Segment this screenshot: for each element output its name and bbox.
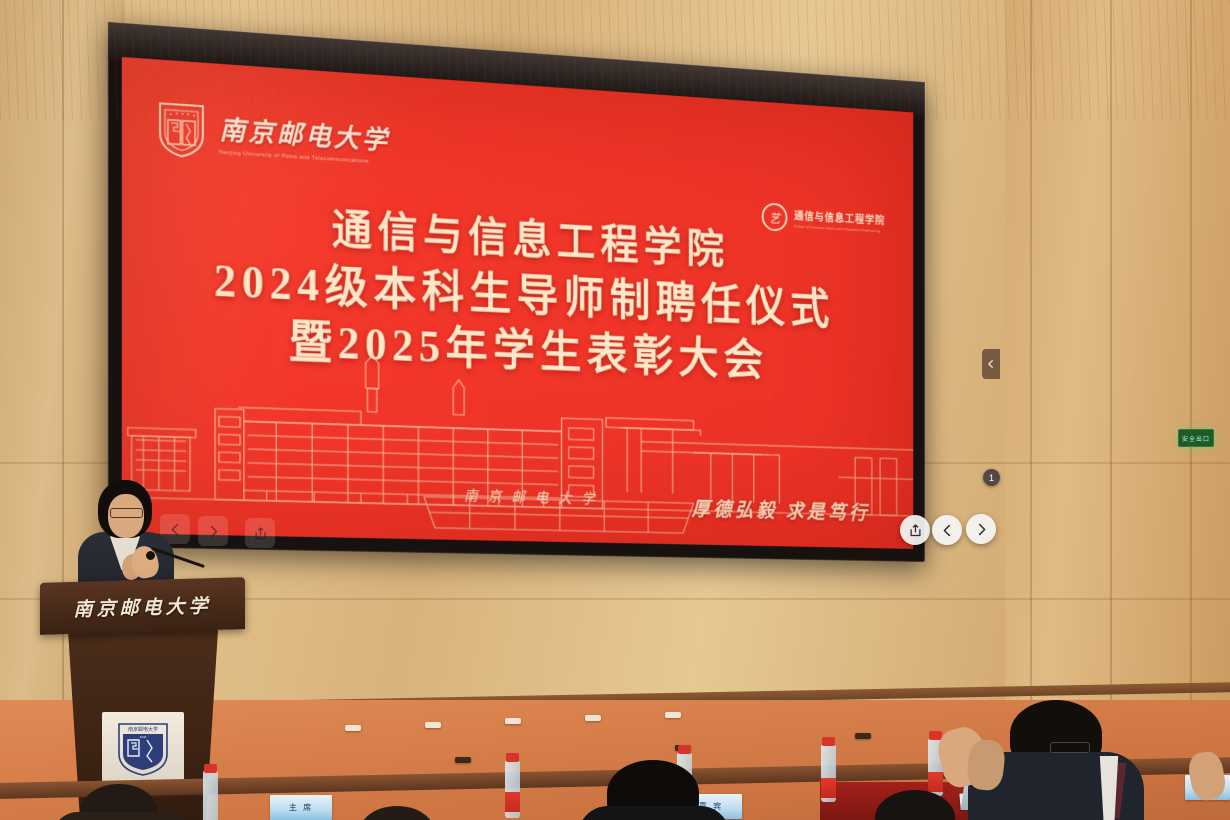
ghost-share-button[interactable] bbox=[245, 518, 275, 548]
floor-outlet bbox=[585, 715, 601, 721]
page-badge[interactable]: 1 bbox=[983, 469, 1000, 486]
audience-glasses bbox=[1050, 742, 1090, 753]
floor-outlet bbox=[345, 725, 361, 731]
share-icon bbox=[253, 526, 268, 541]
floor-outlet bbox=[425, 722, 441, 728]
floor-outlet bbox=[855, 733, 871, 739]
bottle-cap bbox=[506, 753, 519, 762]
svg-text:南京邮电大学: 南京邮电大学 bbox=[128, 726, 158, 733]
screen-panel: 南京邮电大学 Nanjing University of Posts and T… bbox=[122, 57, 913, 549]
chevron-left-icon bbox=[986, 359, 996, 369]
share-button[interactable] bbox=[900, 515, 930, 545]
microphone-icon bbox=[146, 551, 155, 560]
podium-calligraphy: 南京邮电大学 bbox=[40, 577, 245, 635]
floor-outlet bbox=[455, 757, 471, 763]
prev-button[interactable] bbox=[932, 515, 962, 545]
floor-outlet bbox=[665, 712, 681, 718]
podium-emblem: 南京邮电大学 1942 bbox=[102, 712, 184, 786]
ghost-next-button[interactable] bbox=[198, 516, 228, 546]
exit-sign: 安全出口 bbox=[1178, 429, 1214, 447]
bottle-label bbox=[821, 778, 836, 798]
bottle-label bbox=[505, 792, 520, 812]
audience-shoulders bbox=[52, 812, 192, 820]
speaker-glasses bbox=[110, 508, 143, 518]
exit-sign-label: 安全出口 bbox=[1182, 434, 1210, 443]
bottle-cap bbox=[822, 737, 835, 746]
photo-scene: 安全出口 bbox=[0, 0, 1230, 820]
chevron-right-icon bbox=[206, 524, 221, 539]
share-icon bbox=[908, 523, 923, 538]
svg-text:1942: 1942 bbox=[140, 735, 147, 739]
screen-vignette bbox=[122, 57, 913, 549]
next-button[interactable] bbox=[966, 514, 996, 544]
name-card-label: 主 席 bbox=[289, 802, 313, 813]
bottle-cap bbox=[204, 764, 217, 773]
floor-outlet bbox=[505, 718, 521, 724]
university-shield-icon: 南京邮电大学 1942 bbox=[117, 722, 169, 776]
floor-grain bbox=[0, 0, 1230, 120]
chevron-left-icon bbox=[940, 523, 955, 538]
audience-shoulders bbox=[578, 806, 730, 820]
collapse-tab[interactable] bbox=[982, 349, 1000, 379]
name-card: 主 席 bbox=[270, 795, 332, 820]
bottle-cap bbox=[678, 745, 691, 754]
chevron-right-icon bbox=[974, 522, 989, 537]
water-bottle bbox=[203, 770, 218, 820]
bottle-label bbox=[928, 772, 943, 792]
